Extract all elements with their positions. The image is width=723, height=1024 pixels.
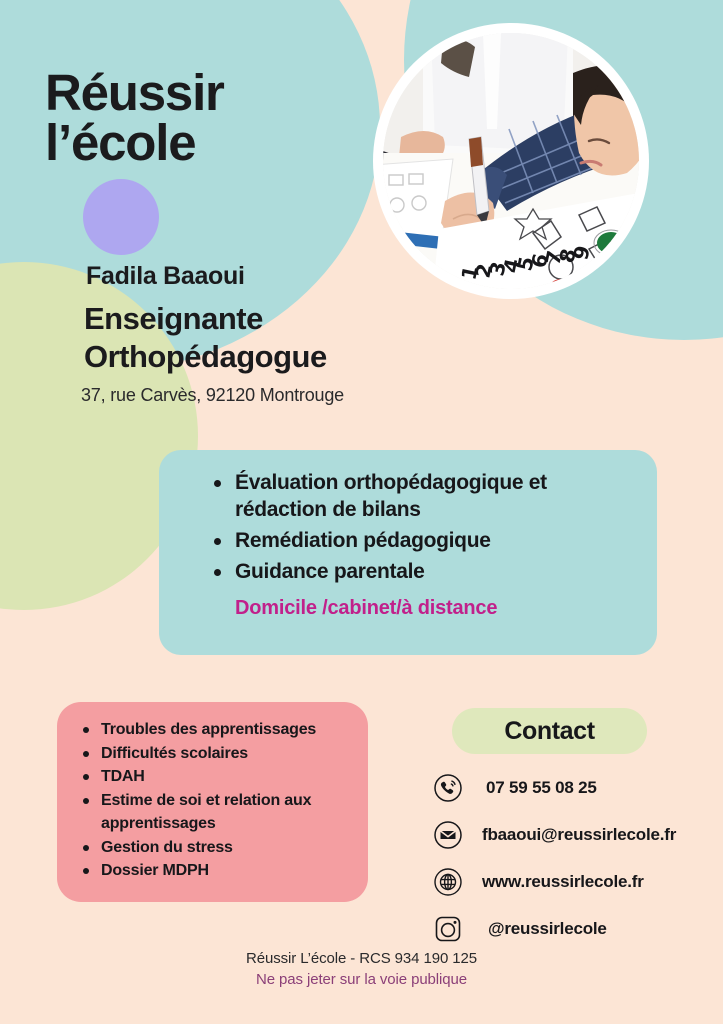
- decor-circle-purple: [83, 179, 159, 255]
- contact-phone-value: 07 59 55 08 25: [486, 778, 597, 798]
- contact-website-value: www.reussirlecole.fr: [482, 872, 644, 892]
- practitioner-name: Fadila Baaoui: [86, 262, 245, 291]
- contact-heading-pill: Contact: [452, 708, 647, 754]
- practitioner-role: Enseignante Orthopédagogue: [84, 300, 534, 376]
- list-item: Troubles des apprentissages: [81, 719, 356, 742]
- specialties-list: Troubles des apprentissages Difficultés …: [81, 719, 356, 884]
- footer: Réussir L’école - RCS 934 190 125 Ne pas…: [0, 950, 723, 988]
- list-item: Guidance parentale: [214, 559, 639, 586]
- contact-row-phone[interactable]: 07 59 55 08 25: [432, 768, 712, 808]
- flyer-canvas: 1 2 3 4 5 6 7 8 9: [0, 0, 723, 1024]
- headline-line-1: Réussir: [45, 64, 224, 121]
- instagram-icon: [432, 913, 464, 945]
- practitioner-address: 37, rue Carvès, 92120 Montrouge: [81, 385, 344, 406]
- footer-legal-text: Réussir L’école - RCS 934 190 125: [0, 950, 723, 967]
- page-title: Réussir l’école: [45, 68, 375, 168]
- contact-row-instagram[interactable]: @reussirlecole: [432, 909, 712, 949]
- list-item: Évaluation orthopédagogique et rédaction…: [214, 470, 639, 524]
- list-item: Dossier MDPH: [81, 860, 356, 883]
- services-tagline: Domicile /cabinet/à distance: [235, 597, 497, 620]
- list-item: Remédiation pédagogique: [214, 528, 639, 555]
- services-card: Évaluation orthopédagogique et rédaction…: [159, 450, 657, 655]
- contact-list: 07 59 55 08 25 fbaaoui@reussirlecole.fr: [432, 768, 712, 956]
- child-writing-photo: 1 2 3 4 5 6 7 8 9: [383, 33, 639, 289]
- list-item: TDAH: [81, 766, 356, 789]
- footer-notice-text: Ne pas jeter sur la voie publique: [0, 971, 723, 988]
- role-line-1: Enseignante: [84, 301, 263, 336]
- list-item: Difficultés scolaires: [81, 743, 356, 766]
- specialties-card: Troubles des apprentissages Difficultés …: [57, 702, 368, 902]
- headline-line-2: l’école: [45, 118, 375, 168]
- list-item: Estime de soi et relation aux apprentiss…: [81, 790, 356, 835]
- contact-email-value: fbaaoui@reussirlecole.fr: [482, 825, 676, 845]
- role-line-2: Orthopédagogue: [84, 338, 534, 376]
- contact-row-email[interactable]: fbaaoui@reussirlecole.fr: [432, 815, 712, 855]
- list-item: Gestion du stress: [81, 837, 356, 860]
- globe-icon: [432, 866, 464, 898]
- phone-icon: [432, 772, 464, 804]
- contact-row-website[interactable]: www.reussirlecole.fr: [432, 862, 712, 902]
- contact-title: Contact: [504, 717, 594, 746]
- services-list: Évaluation orthopédagogique et rédaction…: [214, 470, 639, 590]
- contact-instagram-value: @reussirlecole: [488, 919, 607, 939]
- hero-photo: 1 2 3 4 5 6 7 8 9: [378, 28, 644, 294]
- email-icon: [432, 819, 464, 851]
